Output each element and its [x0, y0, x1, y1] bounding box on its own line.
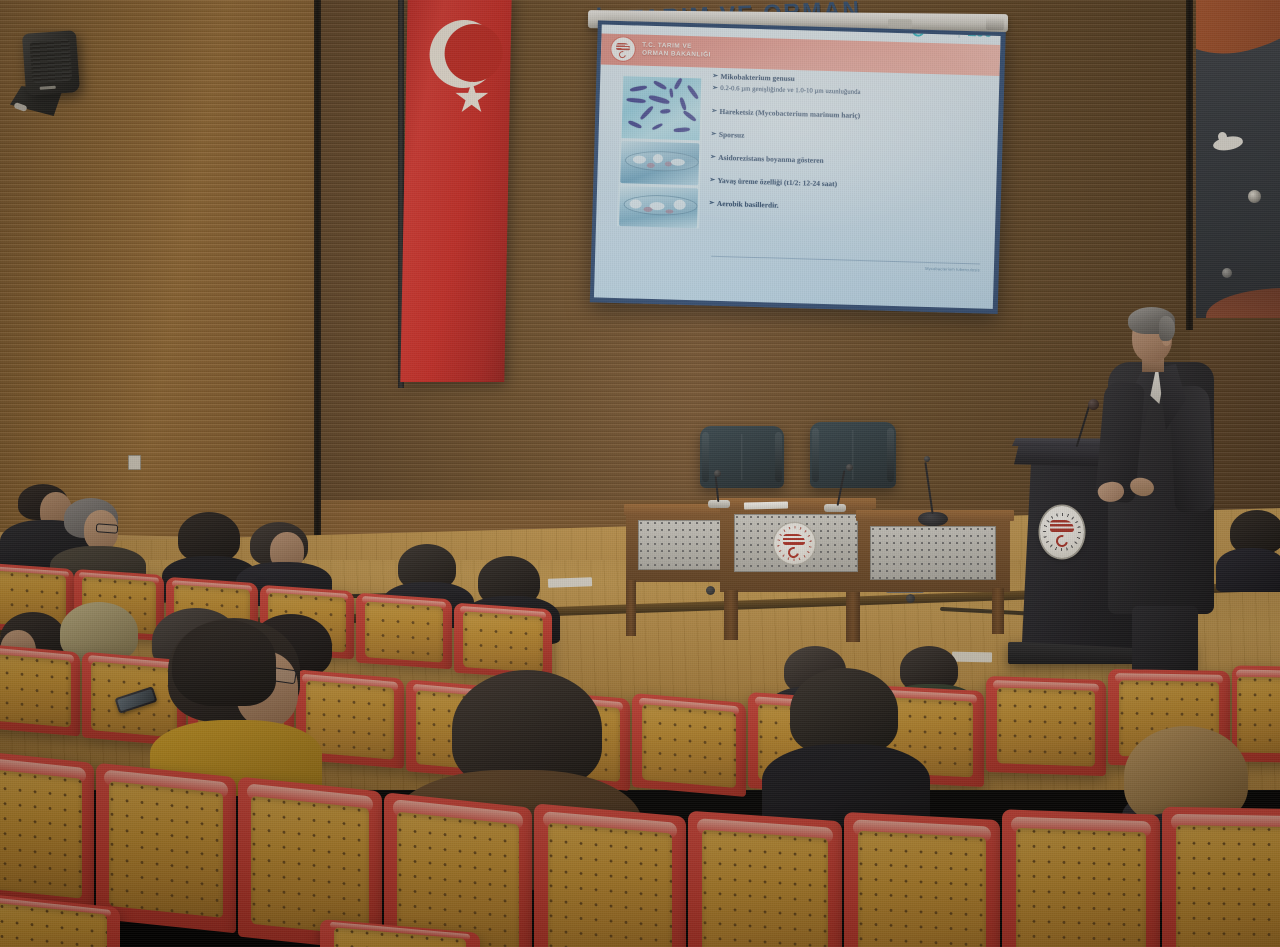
crescent-cutout — [444, 24, 503, 82]
bullet-item: ➢ Sporsuz — [711, 130, 989, 147]
banner-arc — [1196, 0, 1280, 67]
eyeglasses — [96, 523, 119, 534]
auditorium-seat[interactable] — [688, 811, 842, 947]
slide-caption: Mycobacterium tuberculosis — [925, 266, 980, 273]
projection-screen-assembly: TÜRKİYE YÜZYILI 100 T.C. TARIM VE — [574, 0, 1011, 320]
microphone-head — [924, 456, 930, 462]
slide-surface: TÜRKİYE YÜZYILI 100 T.C. TARIM VE — [594, 24, 1001, 308]
speaker-badge — [40, 86, 56, 90]
auditorium-seat[interactable] — [96, 763, 236, 934]
microscopy-image-panel — [617, 74, 703, 228]
banner-dot — [1222, 268, 1232, 278]
bullet-marker-icon: ➢ — [712, 84, 718, 93]
right-wall-banner — [1196, 0, 1280, 318]
tissue-section-image-1 — [620, 141, 699, 185]
auditorium-seat[interactable] — [844, 812, 1000, 947]
ministry-name-line2: ORMAN BAKANLIĞI — [642, 50, 711, 60]
roller-end-cap — [986, 17, 1004, 30]
bullet-item: ➢ Asidorezistans boyanma gösteren — [710, 153, 988, 170]
bullet-marker-icon: ➢ — [712, 72, 718, 81]
microphone-head — [1088, 399, 1099, 410]
auditorium-seat[interactable] — [1002, 809, 1160, 947]
bullet-item: ➢ Hareketsiz (Mycobacterium marinum hari… — [711, 107, 989, 124]
audience-seating — [0, 470, 1280, 947]
bullet-item: ➢ Aerobik basillerdir. — [709, 199, 987, 216]
bullet-marker-icon: ➢ — [710, 153, 716, 162]
bullet-item: ➢ Yavaş üreme özelliği (t1/2: 12-24 saat… — [709, 176, 987, 193]
attendee-hair — [790, 668, 898, 754]
bullet-text: 0.2-0.6 µm genişliğinde ve 1.0-10 µm uzu… — [720, 84, 861, 97]
roller-tab — [888, 19, 912, 28]
auditorium-seat[interactable] — [0, 749, 94, 913]
slide-bullet-list: ➢ Mikobakterium genusu ➢ 0.2-0.6 µm geni… — [708, 72, 990, 230]
bullet-marker-icon: ➢ — [709, 199, 715, 208]
auditorium-seat[interactable] — [238, 776, 382, 947]
ministry-logo-icon — [610, 36, 637, 63]
crescent-icon — [618, 50, 627, 59]
presenter-hair — [1159, 316, 1175, 341]
bullet-text: Yavaş üreme özelliği (t1/2: 12-24 saat) — [717, 176, 837, 189]
slide-divider — [711, 256, 980, 265]
bullet-marker-icon: ➢ — [711, 107, 717, 116]
wheat-icon — [616, 43, 630, 50]
wall-outlet — [128, 455, 141, 470]
attendee-hair — [178, 512, 240, 562]
turkiye-line2: YÜZYILI — [928, 29, 949, 36]
banner-shape — [1212, 134, 1244, 153]
banner-dot — [1248, 190, 1261, 203]
auditorium-seat[interactable] — [534, 803, 686, 947]
bullet-marker-icon: ➢ — [711, 130, 717, 139]
auditorium-seat[interactable] — [454, 603, 552, 680]
speaker-grill — [29, 39, 72, 84]
bullet-text: Aerobik basillerdir. — [717, 199, 779, 210]
auditorium-seat[interactable] — [0, 644, 80, 737]
bullet-text: Asidorezistans boyanma gösteren — [718, 153, 824, 165]
projection-screen: TÜRKİYE YÜZYILI 100 T.C. TARIM VE — [590, 20, 1006, 314]
conference-hall-photo: İL TARIM VE ORMAN TÜRKİYE YÜZYILI — [0, 0, 1280, 947]
auditorium-seat[interactable] — [1162, 807, 1280, 947]
auditorium-seat[interactable] — [384, 792, 532, 947]
turkish-flag — [400, 0, 511, 382]
attendee-hair — [172, 620, 276, 706]
auditorium-seat[interactable] — [356, 593, 452, 670]
banner-shape — [1218, 132, 1227, 142]
auditorium-seat[interactable] — [632, 693, 746, 797]
attendee-shoulders — [1216, 548, 1280, 592]
wall-speaker — [22, 30, 80, 96]
auditorium-seat[interactable] — [1232, 665, 1280, 762]
acid-fast-bacilli-image — [622, 76, 702, 140]
auditorium-seat[interactable] — [986, 676, 1106, 776]
bullet-text: Hareketsiz (Mycobacterium marinum hariç) — [719, 107, 860, 120]
tissue-section-image-2 — [619, 186, 698, 228]
bullet-text: Sporsuz — [719, 130, 745, 140]
bullet-text: Mikobakterium genusu — [720, 72, 794, 84]
bullet-marker-icon: ➢ — [709, 176, 715, 185]
wall-seam — [1186, 0, 1193, 330]
